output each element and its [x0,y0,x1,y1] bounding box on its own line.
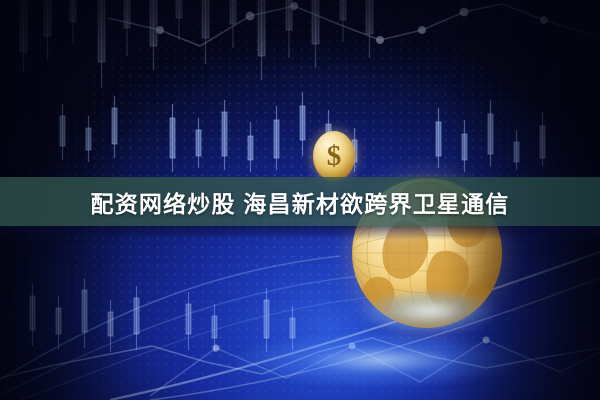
banner-image: $ 配资网络炒股 海昌新材欲跨界卫星通信 [0,0,600,400]
title-band: 配资网络炒股 海昌新材欲跨界卫星通信 [0,177,600,226]
band-under-shadow [0,226,600,240]
banner-title: 配资网络炒股 海昌新材欲跨界卫星通信 [91,185,510,219]
